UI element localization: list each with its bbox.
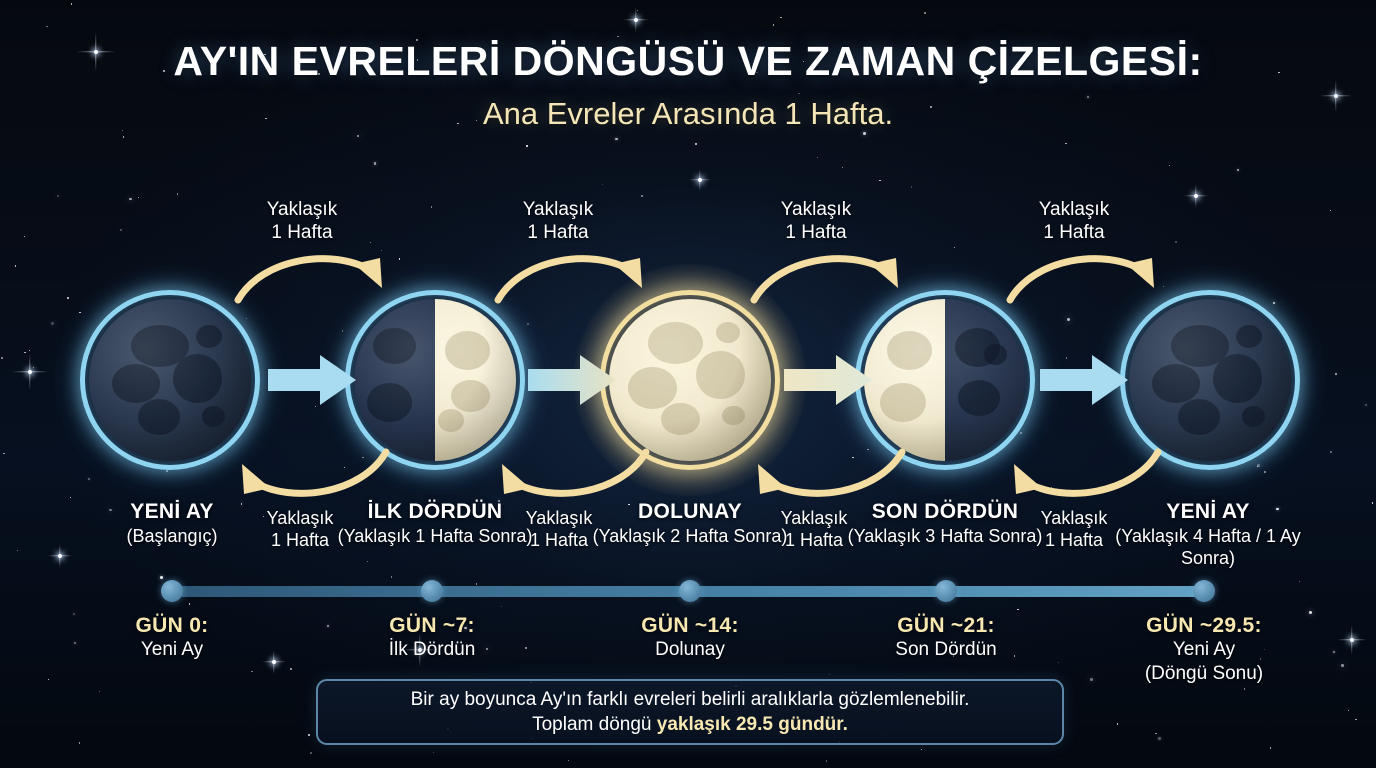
week-label-top-4: Yaklaşık 1 Hafta [1004, 198, 1144, 244]
timeline-day-label: GÜN ~29.5: [1089, 614, 1319, 638]
flow-arrow-right-3 [784, 353, 872, 407]
timeline-dot-day-7[interactable] [421, 580, 443, 602]
phase-subtitle: (Yaklaşık 4 Hafta / 1 Ay Sonra) [1103, 526, 1313, 569]
week-label-line1: Yaklaşık [488, 198, 628, 221]
summary-note-line2-prefix: Toplam döngü [532, 714, 657, 735]
timeline-phase-label: İlk Dördün [317, 638, 547, 662]
summary-note-line1: Bir ay boyunca Ay'ın farklı evreleri bel… [411, 689, 970, 710]
moon-disc [1129, 299, 1291, 461]
week-label-line1: Yaklaşık [1004, 198, 1144, 221]
summary-note-highlight: yaklaşık 29.5 gündür. [657, 714, 848, 735]
moon-disc [89, 299, 251, 461]
phase-caption-first-quarter: İLK DÖRDÜN (Yaklaşık 1 Hafta Sonra) [330, 500, 540, 548]
timeline-caption-day-7: GÜN ~7: İlk Dördün [317, 614, 547, 662]
phase-subtitle: (Yaklaşık 2 Hafta Sonra) [585, 526, 795, 548]
week-label-top-2: Yaklaşık 1 Hafta [488, 198, 628, 244]
curved-arrow-back-1 [228, 448, 388, 504]
star-sparkle [689, 169, 711, 191]
flow-arrow-right-1 [268, 353, 356, 407]
moon-phase-new-moon-end [1120, 290, 1300, 470]
timeline-dot-day-21[interactable] [935, 580, 957, 602]
timeline-dot-day-0[interactable] [161, 580, 183, 602]
phase-name: YENİ AY [1103, 500, 1313, 524]
timeline-dot-day-29-5[interactable] [1193, 580, 1215, 602]
timeline-dot-day-14[interactable] [679, 580, 701, 602]
star-sparkle [12, 354, 48, 390]
timeline-caption-day-0: GÜN 0: Yeni Ay [57, 614, 287, 662]
moon-shading [1129, 299, 1291, 461]
phase-caption-new-moon-start: YENİ AY (Başlangıç) [67, 500, 277, 548]
moon-phase-full-moon [600, 290, 780, 470]
star-sparkle [1184, 184, 1208, 208]
moon-disc [354, 299, 516, 461]
flow-arrow-right-2 [528, 353, 616, 407]
curved-arrow-forward-3 [752, 248, 912, 304]
curved-arrow-forward-2 [496, 248, 656, 304]
week-label-line1: Yaklaşık [746, 198, 886, 221]
curved-arrow-back-3 [744, 448, 904, 504]
summary-note-box: Bir ay boyunca Ay'ın farklı evreleri bel… [316, 679, 1064, 745]
moon-phase-last-quarter [855, 290, 1035, 470]
moon-disc [609, 299, 771, 461]
star-sparkle [1337, 625, 1367, 655]
moon-phase-new-moon-start [80, 290, 260, 470]
phase-caption-last-quarter: SON DÖRDÜN (Yaklaşık 3 Hafta Sonra) [840, 500, 1050, 548]
week-label-line1: Yaklaşık [232, 198, 372, 221]
phase-name: İLK DÖRDÜN [330, 500, 540, 524]
page-title: AY'IN EVRELERİ DÖNGÜSÜ VE ZAMAN ÇİZELGES… [0, 38, 1376, 85]
week-label-top-1: Yaklaşık 1 Hafta [232, 198, 372, 244]
moon-phase-first-quarter [345, 290, 525, 470]
timeline-day-label: GÜN ~7: [317, 614, 547, 638]
curved-arrow-back-4 [1000, 448, 1160, 504]
phase-name: YENİ AY [67, 500, 277, 524]
flow-arrow-right-4 [1040, 353, 1128, 407]
timeline-day-label: GÜN ~14: [575, 614, 805, 638]
moon-shading [609, 299, 771, 461]
timeline-phase-label: Dolunay [575, 638, 805, 662]
moon-disc [864, 299, 1026, 461]
phase-name: DOLUNAY [585, 500, 795, 524]
curved-arrow-forward-1 [236, 248, 396, 304]
timeline-caption-day-14: GÜN ~14: Dolunay [575, 614, 805, 662]
week-label-top-3: Yaklaşık 1 Hafta [746, 198, 886, 244]
phase-subtitle: (Başlangıç) [67, 526, 277, 548]
timeline-caption-day-29-5: GÜN ~29.5: Yeni Ay (Döngü Sonu) [1089, 614, 1319, 686]
header-block: AY'IN EVRELERİ DÖNGÜSÜ VE ZAMAN ÇİZELGES… [0, 38, 1376, 132]
star-sparkle [623, 7, 649, 33]
phase-subtitle: (Yaklaşık 3 Hafta Sonra) [840, 526, 1050, 548]
phase-subtitle: (Yaklaşık 1 Hafta Sonra) [330, 526, 540, 548]
timeline-day-label: GÜN ~21: [831, 614, 1061, 638]
phase-caption-new-moon-end: YENİ AY (Yaklaşık 4 Hafta / 1 Ay Sonra) [1103, 500, 1313, 569]
timeline-day-label: GÜN 0: [57, 614, 287, 638]
summary-note-text: Bir ay boyunca Ay'ın farklı evreleri bel… [397, 687, 984, 737]
curved-arrow-back-2 [488, 448, 648, 504]
week-label-line2: 1 Hafta [1004, 221, 1144, 244]
timeline-caption-day-21: GÜN ~21: Son Dördün [831, 614, 1061, 662]
timeline-phase-label: Son Dördün [831, 638, 1061, 662]
phase-name: SON DÖRDÜN [840, 500, 1050, 524]
timeline-phase-label: Yeni Ay [1089, 638, 1319, 662]
week-label-line2: 1 Hafta [232, 221, 372, 244]
moon-shading [354, 299, 516, 461]
page-subtitle: Ana Evreler Arasında 1 Hafta. [0, 95, 1376, 132]
infographic-canvas: AY'IN EVRELERİ DÖNGÜSÜ VE ZAMAN ÇİZELGES… [0, 0, 1376, 768]
timeline-phase-label: Yeni Ay [57, 638, 287, 662]
moon-shading [864, 299, 1026, 461]
week-label-line2: 1 Hafta [746, 221, 886, 244]
curved-arrow-forward-4 [1008, 248, 1168, 304]
timeline-phase-sublabel: (Döngü Sonu) [1089, 662, 1319, 686]
phase-caption-full-moon: DOLUNAY (Yaklaşık 2 Hafta Sonra) [585, 500, 795, 548]
week-label-line2: 1 Hafta [488, 221, 628, 244]
moon-shading [89, 299, 251, 461]
